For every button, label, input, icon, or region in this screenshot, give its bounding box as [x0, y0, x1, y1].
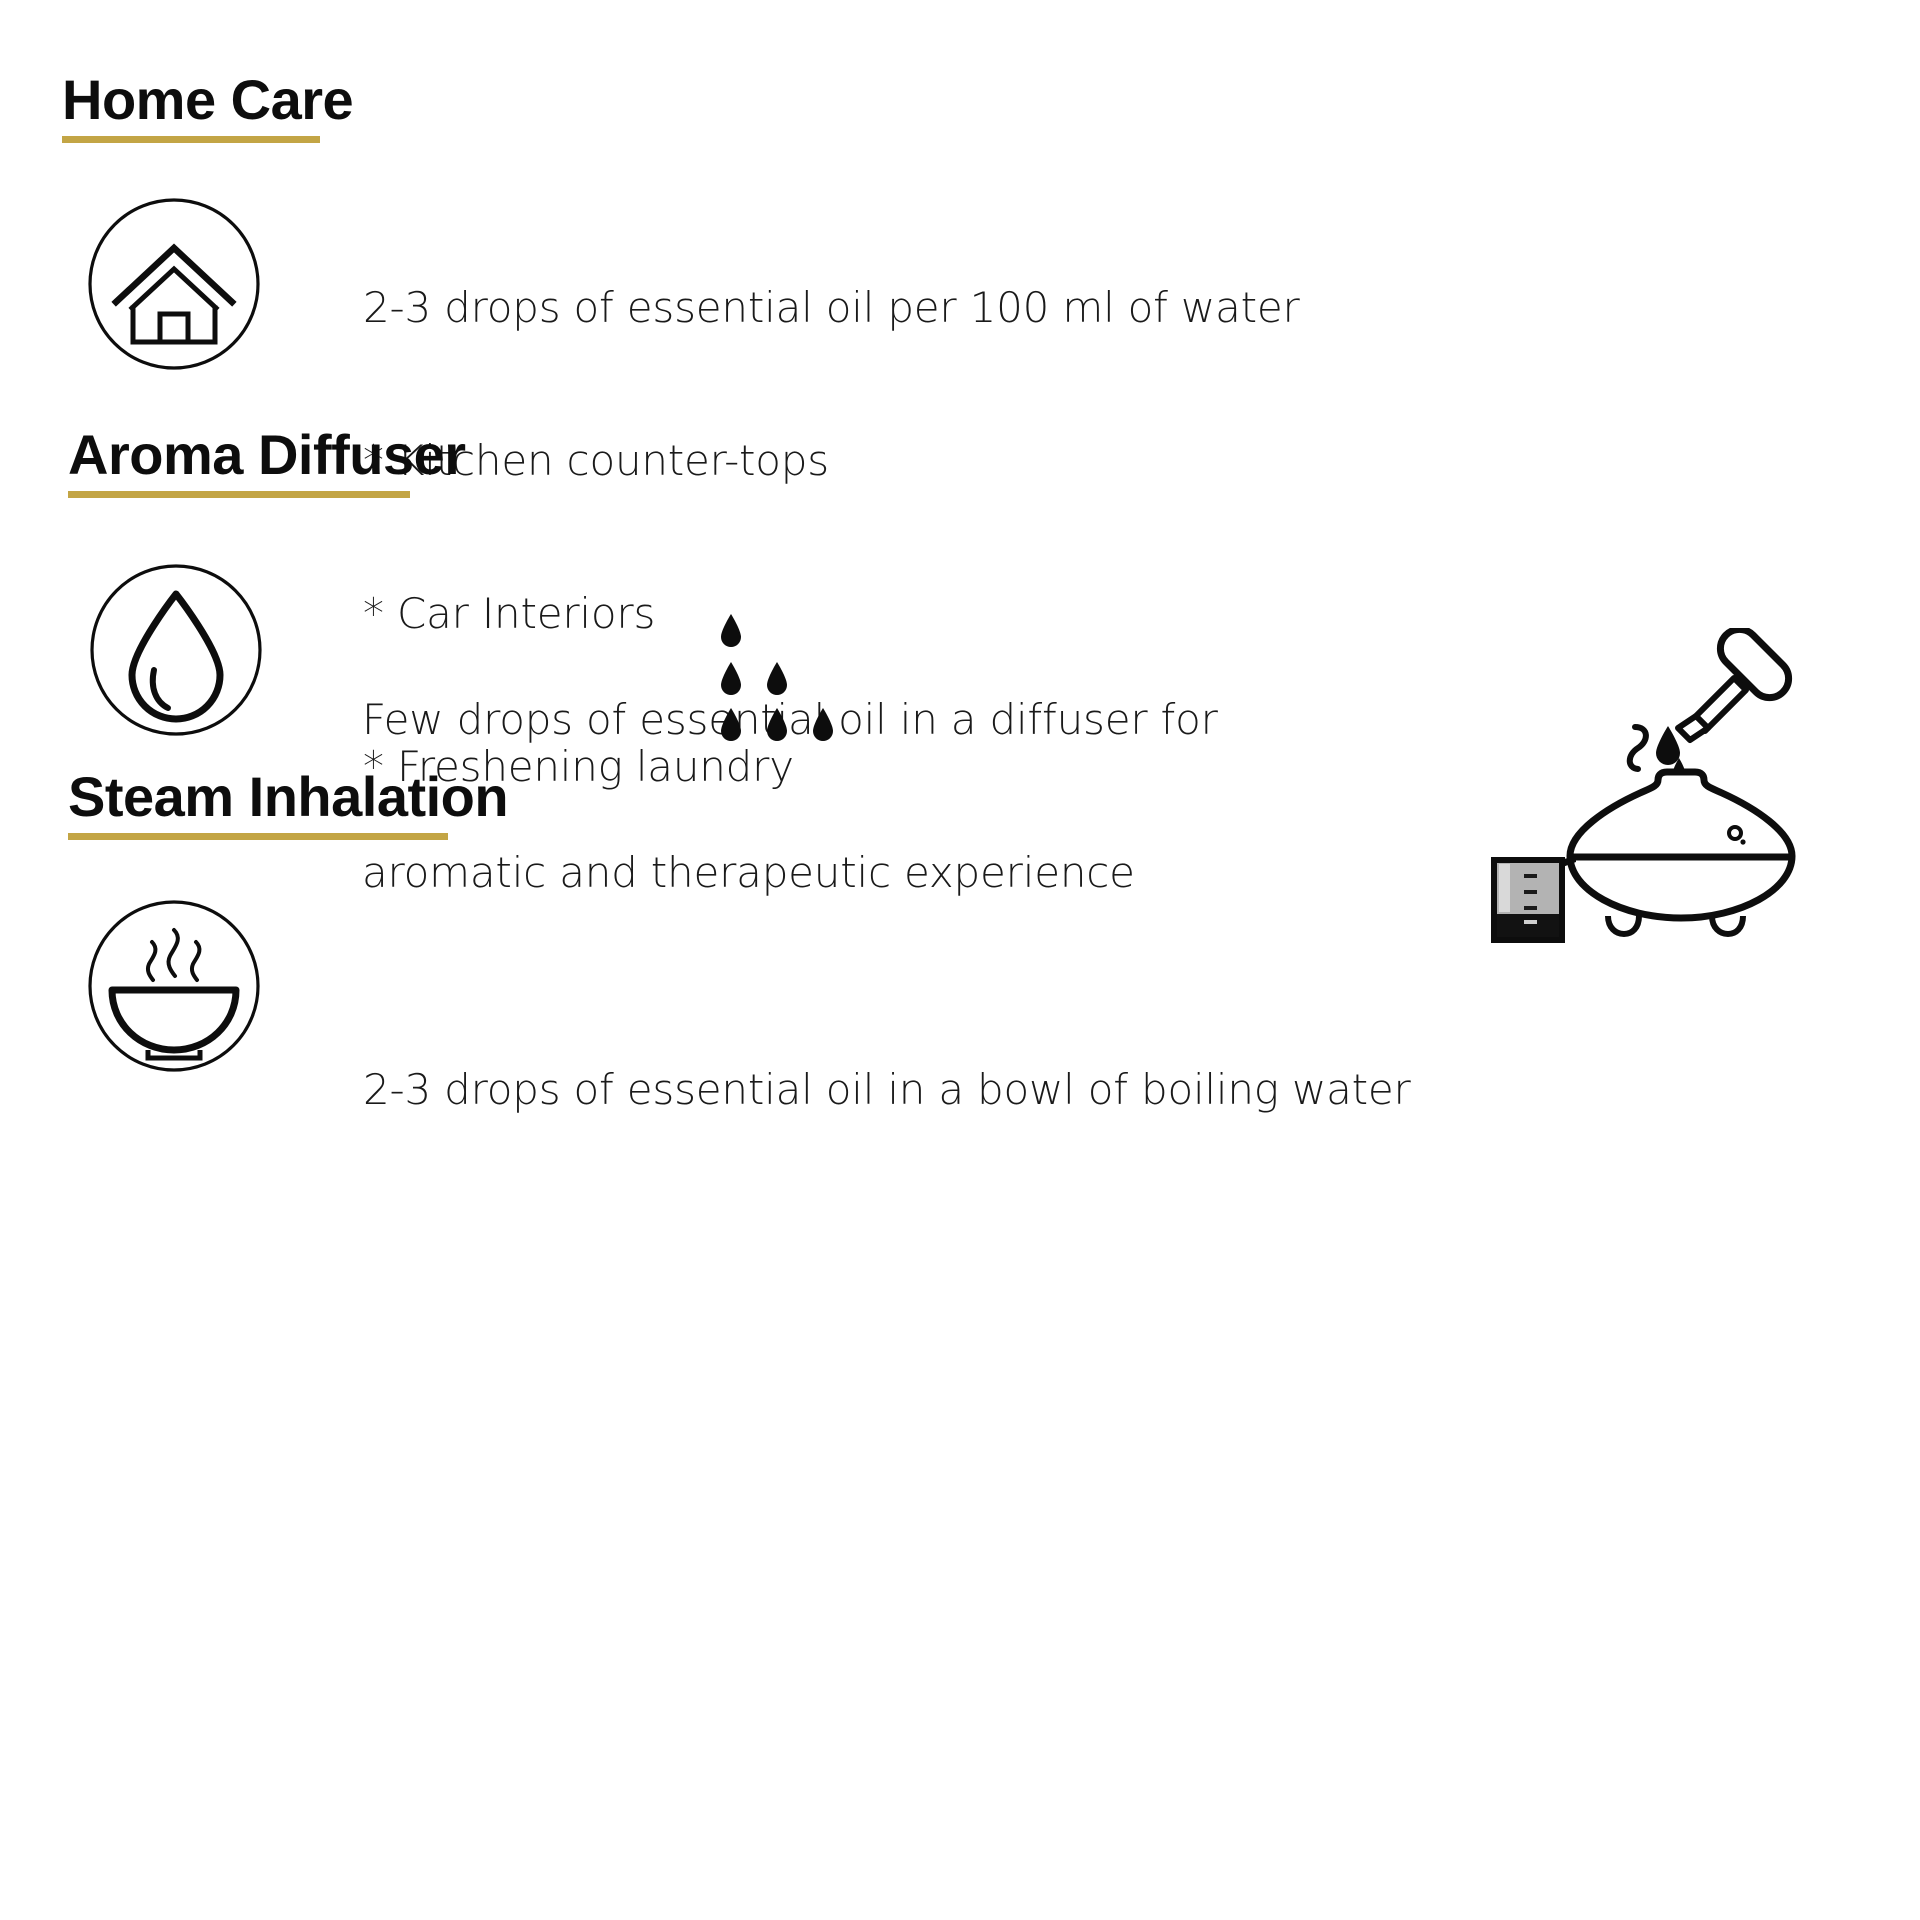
text-line: 2-3 drops of essential oil in a bowl of …	[363, 1064, 1411, 1115]
text-line: * Kitchen counter-tops	[363, 435, 1300, 486]
house-in-circle-icon	[86, 196, 262, 372]
heading-underline-rule	[68, 833, 448, 840]
dropper-icon	[1678, 629, 1789, 740]
diffuser-body-icon	[1570, 772, 1792, 934]
section-heading-steam-inhalation: Steam Inhalation	[68, 767, 508, 840]
section-heading-aroma-diffuser: Aroma Diffuser	[68, 425, 466, 498]
steam-wisp-icon	[1630, 727, 1646, 769]
steaming-bowl-in-circle-icon	[86, 898, 262, 1074]
falling-oil-droplets-icon	[700, 600, 880, 760]
section-heading-label: Aroma Diffuser	[68, 425, 466, 485]
measuring-beaker-icon	[1494, 856, 1576, 940]
heading-underline-rule	[68, 491, 410, 498]
water-drop-in-circle-icon	[88, 562, 264, 738]
section-heading-label: Home Care	[62, 70, 353, 130]
heading-underline-rule	[62, 136, 320, 143]
section-heading-label: Steam Inhalation	[68, 767, 508, 827]
section-heading-home-care: Home Care	[62, 70, 353, 143]
text-line: aromatic and therapeutic experience	[362, 847, 1218, 898]
infographic-page: Home Care 2-3 drops of essential oil per…	[0, 0, 1920, 1920]
steam-inhalation-description: 2-3 drops of essential oil in a bowl of …	[363, 962, 1411, 1217]
text-line: 2-3 drops of essential oil per 100 ml of…	[363, 282, 1300, 333]
aroma-diffuser-with-dropper-and-beaker-illustration	[1472, 628, 1832, 968]
